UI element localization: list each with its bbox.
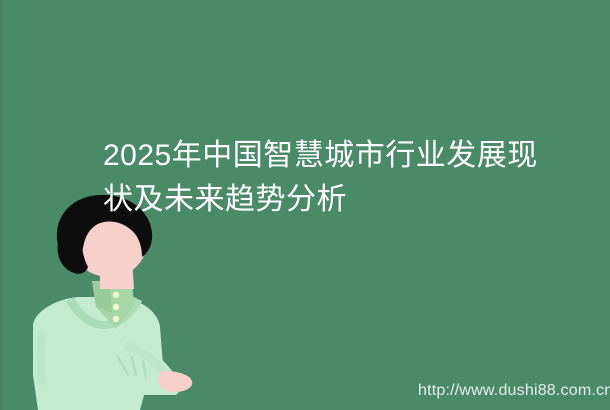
page-title: 2025年中国智慧城市行业发展现状及未来趋势分析 bbox=[103, 134, 543, 222]
promo-banner: 2025年中国智慧城市行业发展现状及未来趋势分析 http://www.dush… bbox=[0, 0, 610, 410]
person-looking-up-illustration bbox=[0, 195, 210, 410]
watermark-url: http://www.dushi88.com.cn bbox=[418, 381, 610, 401]
